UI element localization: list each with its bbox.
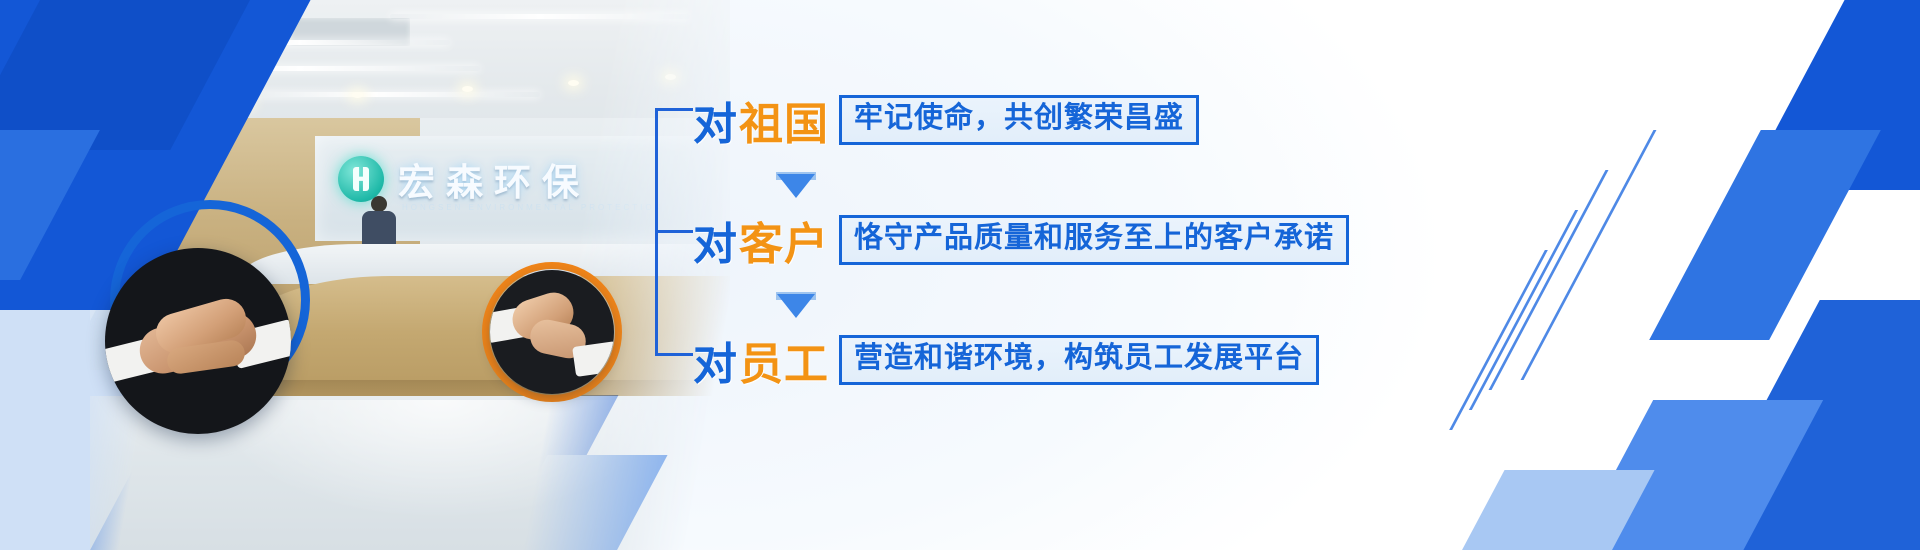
brand-name: 宏森环保 — [398, 152, 590, 206]
value-row-guojia: 对 祖国 牢记使命，共创繁荣昌盛 — [693, 88, 1199, 152]
value-subject-2: 客户 — [739, 208, 829, 272]
value-tag-3: 营造和谐环境，构筑员工发展平台 — [839, 335, 1319, 385]
brace-bracket-middle-tick — [655, 230, 693, 233]
downlight — [352, 92, 363, 98]
value-tag-1: 牢记使命，共创繁荣昌盛 — [839, 95, 1199, 145]
value-subject-1: 祖国 — [739, 88, 829, 152]
downlight — [462, 86, 473, 92]
floor-reflection — [210, 400, 670, 520]
receptionist-head — [371, 196, 387, 212]
value-tag-2: 恪守产品质量和服务至上的客户承诺 — [839, 215, 1349, 265]
brand-subtext: HONGSEN ENVIRONMENTAL PROTECTION — [402, 203, 663, 212]
value-row-yuangong: 对 员工 营造和谐环境，构筑员工发展平台 — [693, 328, 1319, 392]
value-row-kehu: 对 客户 恪守产品质量和服务至上的客户承诺 — [693, 208, 1349, 272]
values-list: 对 祖国 牢记使命，共创繁荣昌盛 对 客户 恪守产品质量和服务至上的客户承诺 对… — [655, 70, 1375, 390]
applause-photo-icon — [490, 270, 614, 394]
arrow-down-icon-triangle — [777, 174, 815, 198]
value-lead-2: 对 — [693, 208, 737, 272]
corporate-values-banner: 宏森环保 HONGSEN ENVIRONMENTAL PROTECTION — [0, 0, 1920, 550]
value-lead-3: 对 — [693, 328, 737, 392]
downlight — [568, 80, 579, 86]
handshake-photo-icon — [105, 248, 291, 434]
ceiling-light-strip — [390, 14, 690, 19]
value-lead-1: 对 — [693, 88, 737, 152]
arrow-down-icon-triangle — [777, 294, 815, 318]
value-subject-3: 员工 — [739, 328, 829, 392]
shirt-cuff — [572, 341, 614, 377]
